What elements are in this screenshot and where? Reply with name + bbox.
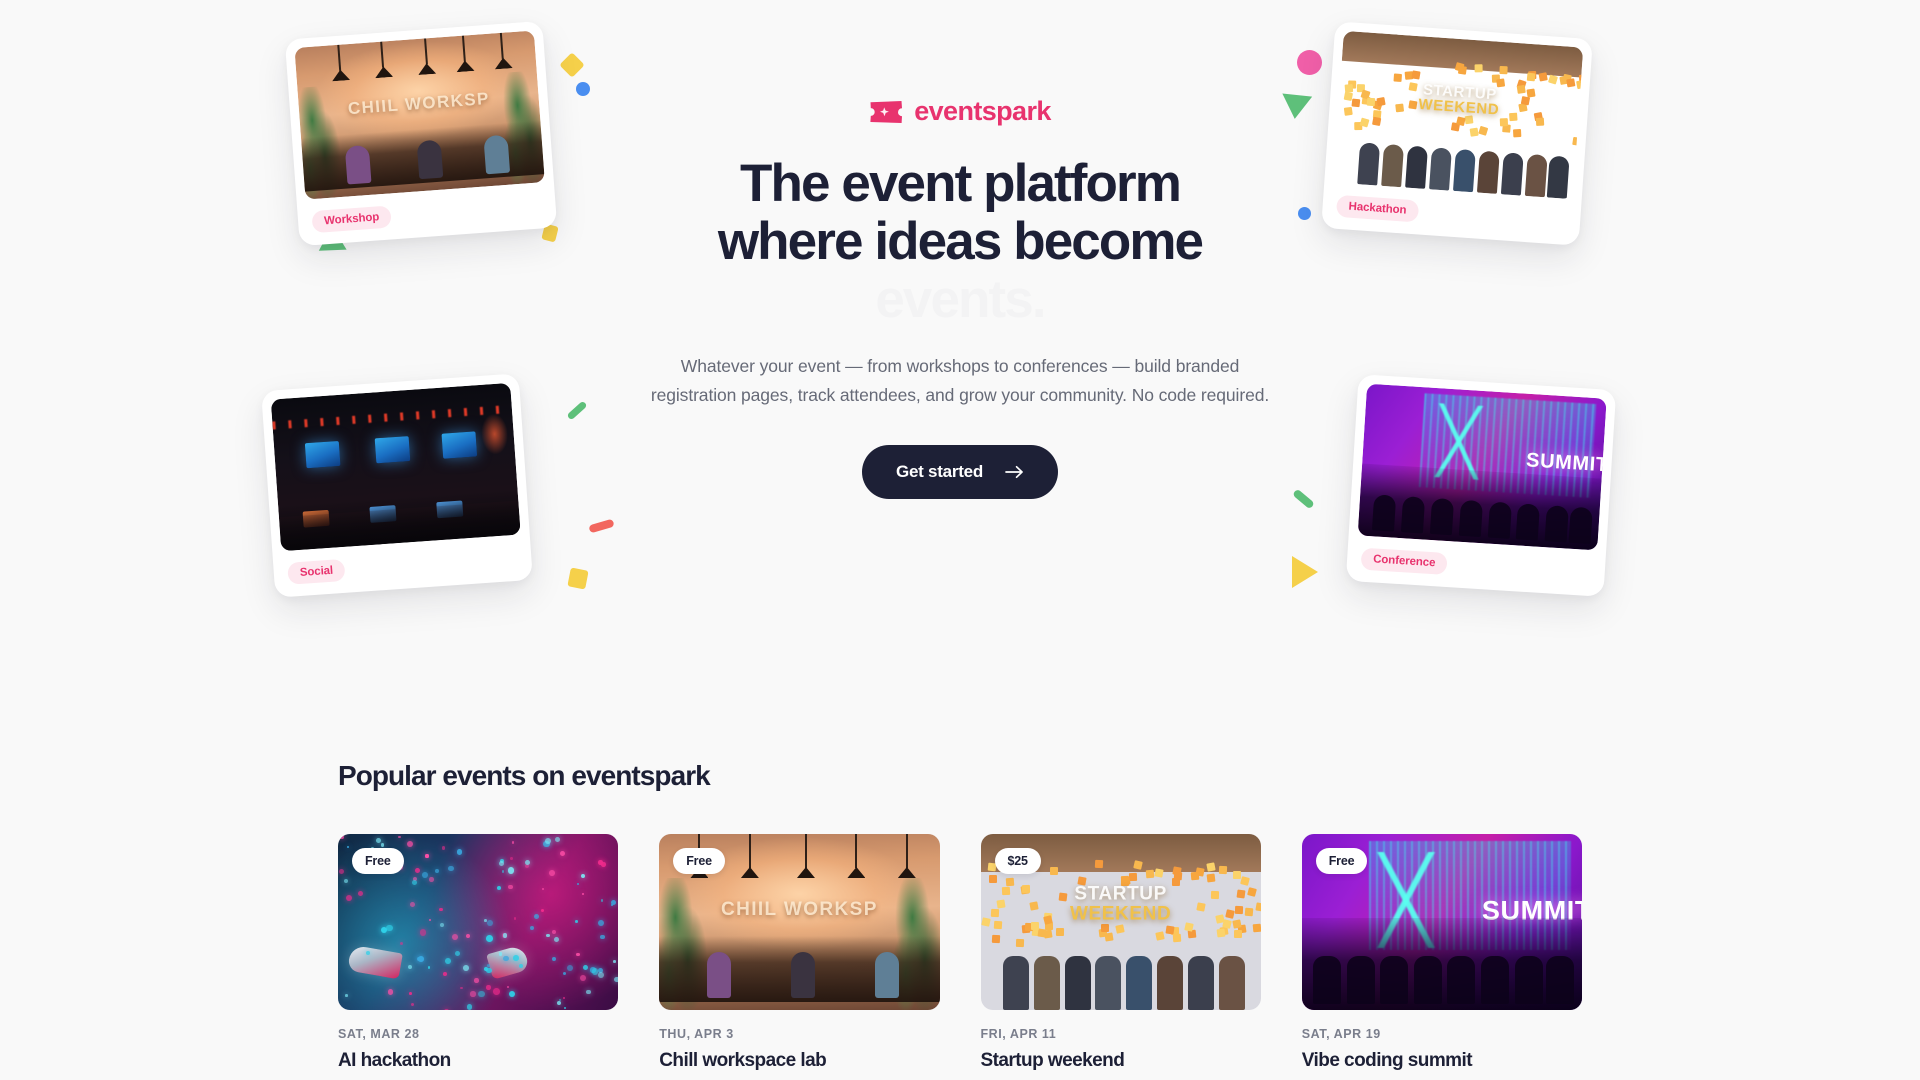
event-title: Startup weekend: [981, 1049, 1261, 1073]
floating-card-workshop[interactable]: CHIIL WORKSP Workshop: [285, 21, 557, 246]
headline-rotating-word: events.: [640, 271, 1280, 329]
decoration-green-slash-right: [1292, 489, 1315, 510]
event-date: SAT, APR 19: [1302, 1027, 1582, 1041]
hero-cta-wrapper: Get started: [640, 445, 1280, 499]
event-date: SAT, MAR 28: [338, 1027, 618, 1041]
event-title: AI hackathon: [338, 1049, 618, 1073]
tag-social: Social: [287, 559, 346, 585]
decoration-pink-circle-right: [1297, 50, 1322, 75]
event-title: Chill workspace lab: [659, 1049, 939, 1073]
decoration-green-triangle-right: [1280, 93, 1312, 120]
workshop-wall-sign: CHIIL WORKSP: [347, 89, 490, 119]
headline-line-2: where ideas become: [718, 212, 1202, 271]
popular-events-grid: Free SAT, MAR 28 AI hackathon Free: [338, 834, 1582, 1073]
event-date: FRI, APR 11: [981, 1027, 1261, 1041]
event3-wall-sign: STARTUPWEEKEND: [1070, 885, 1171, 924]
floating-card-image-workshop: CHIIL WORKSP: [294, 30, 544, 199]
brand-logo[interactable]: eventspark: [640, 96, 1280, 127]
popular-events-title: Popular events on eventspark: [338, 760, 1582, 792]
get-started-label: Get started: [896, 462, 983, 482]
decoration-yellow-square-mid: [567, 567, 588, 589]
floating-card-conference[interactable]: SUMMIT Conference: [1346, 374, 1616, 597]
event-card[interactable]: Free SUMMIT: [1302, 834, 1582, 1073]
event-date: THU, APR 3: [659, 1027, 939, 1041]
tag-workshop: Workshop: [311, 205, 392, 233]
hero-section: CHIIL WORKSP Workshop STARTUPWEE: [0, 0, 1920, 700]
event-price-badge: Free: [1316, 848, 1368, 874]
hero-headline: The event platform where ideas become ev…: [640, 155, 1280, 328]
event-price-badge: $25: [995, 848, 1041, 874]
event-price-badge: Free: [673, 848, 725, 874]
decoration-green-slash: [566, 401, 587, 421]
floating-card-image-conference: SUMMIT: [1358, 384, 1607, 551]
event-title: Vibe coding summit: [1302, 1049, 1582, 1073]
event-card[interactable]: Free CHIIL WORKSP: [659, 834, 939, 1073]
decoration-blue-circle-right: [1298, 207, 1311, 220]
floating-card-image-hackathon: STARTUPWEEKEND: [1333, 31, 1583, 199]
decoration-salmon-slash: [588, 519, 614, 534]
ticket-icon: [869, 100, 903, 124]
landing-page: CHIIL WORKSP Workshop STARTUPWEE: [0, 0, 1920, 1080]
startup-wall-sign: STARTUPWEEKEND: [1418, 82, 1501, 118]
floating-card-social[interactable]: Social: [261, 373, 533, 597]
event-thumbnail: Free CHIIL WORKSP: [659, 834, 939, 1010]
tag-conference: Conference: [1360, 548, 1447, 575]
decoration-yellow-diamond: [559, 52, 584, 77]
get-started-button[interactable]: Get started: [862, 445, 1058, 499]
arrow-right-icon: [1005, 465, 1024, 479]
event-card[interactable]: Free SAT, MAR 28 AI hackathon: [338, 834, 618, 1073]
headline-line-1: The event platform: [740, 154, 1180, 213]
hero-subtitle: Whatever your event — from workshops to …: [640, 352, 1280, 409]
event2-wall-sign: CHIIL WORKSP: [721, 899, 878, 921]
tag-hackathon: Hackathon: [1336, 195, 1419, 223]
event-thumbnail: Free SUMMIT: [1302, 834, 1582, 1010]
decoration-yellow-triangle-right: [1292, 556, 1318, 588]
event-card[interactable]: $25 STARTUPWEEKEND: [981, 834, 1261, 1073]
floating-card-hackathon[interactable]: STARTUPWEEKEND Hackathon: [1321, 21, 1593, 245]
decoration-blue-circle: [576, 82, 590, 96]
event-thumbnail: Free: [338, 834, 618, 1010]
popular-events-section: Popular events on eventspark Free SAT, M…: [0, 760, 1920, 1073]
brand-name: eventspark: [914, 96, 1051, 127]
floating-card-image-social: [271, 383, 521, 551]
event-thumbnail: $25 STARTUPWEEKEND: [981, 834, 1261, 1010]
event-price-badge: Free: [352, 848, 404, 874]
hero-content: eventspark The event platform where idea…: [640, 96, 1280, 499]
